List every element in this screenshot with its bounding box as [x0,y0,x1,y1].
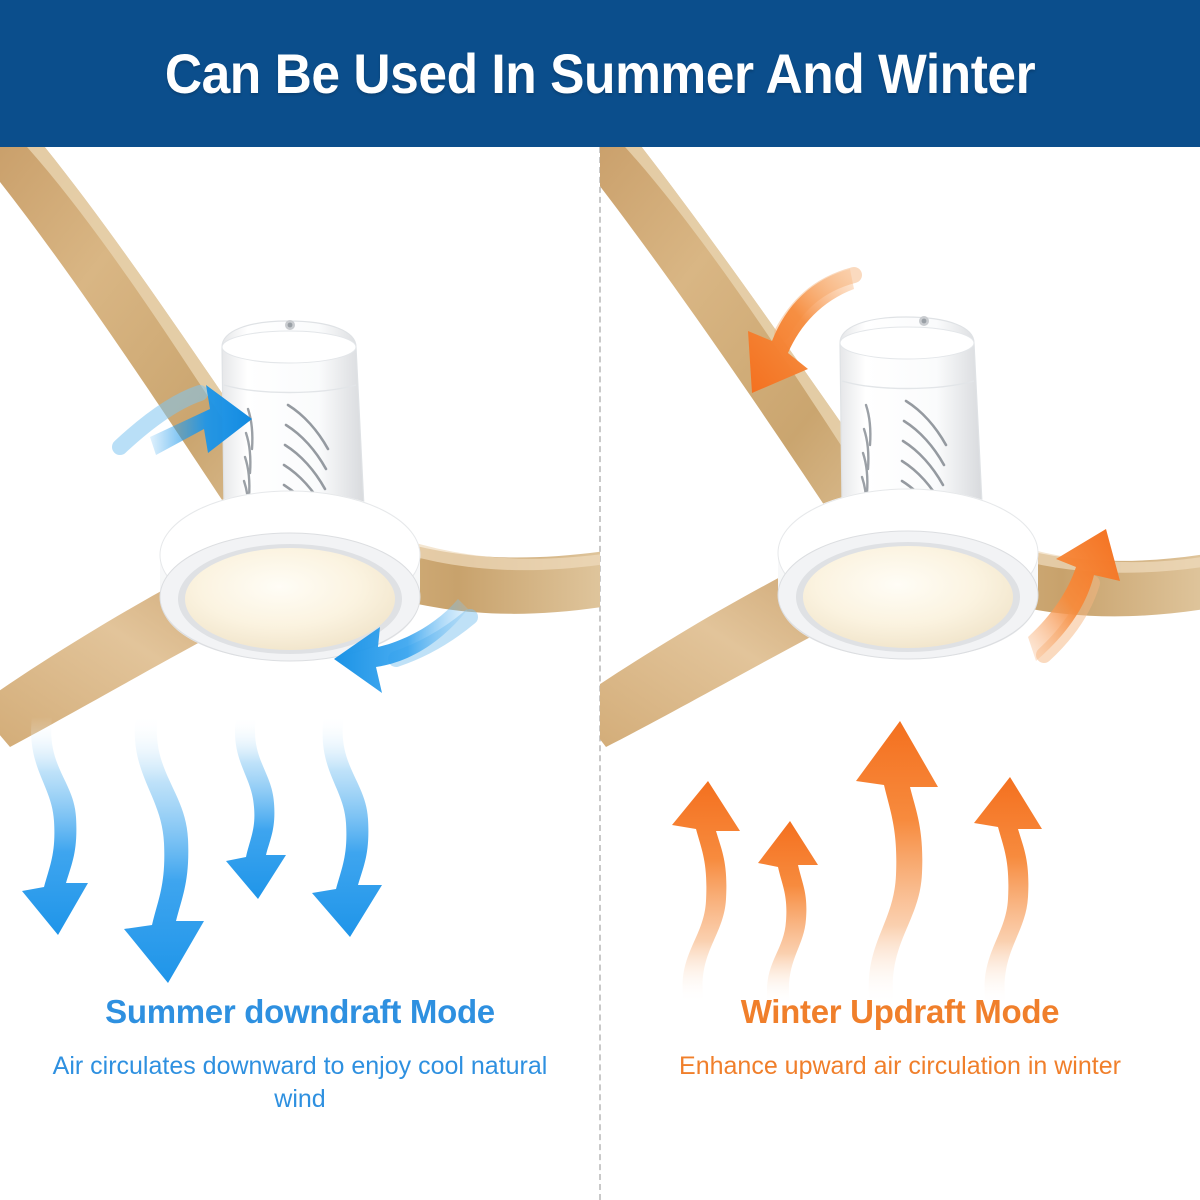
airflow-arrow-up-3 [856,721,938,1005]
airflow-arrow-down-2 [124,715,204,983]
airflow-arrow-up-2 [758,821,818,1005]
airflow-arrow-up-1 [672,781,740,1003]
led-light-panel [803,546,1013,648]
airflow-arrow-down-4 [312,715,382,937]
caption-summer: Summer downdraft Mode Air circulates dow… [0,992,600,1116]
airflow-arrows-down [0,707,600,1007]
mode-description-summer: Air circulates downward to enjoy cool na… [0,1050,600,1117]
mode-title-summer: Summer downdraft Mode [0,992,600,1032]
ceiling-fan-image-winter [600,147,1200,747]
fan-light-hub [160,491,420,661]
ceiling-fan-illustration [600,147,1200,747]
mode-description-winter: Enhance upward air circulation in winter [600,1050,1200,1083]
fan-light-hub [778,489,1038,659]
panel-winter: Winter Updraft Mode Enhance upward air c… [600,147,1200,1200]
caption-winter: Winter Updraft Mode Enhance upward air c… [600,992,1200,1083]
airflow-arrow-down-3 [226,717,286,899]
airflow-arrow-up-4 [974,777,1042,1005]
page-title: Can Be Used In Summer And Winter [165,41,1035,106]
ceiling-fan-illustration [0,147,600,747]
panel-summer: Summer downdraft Mode Air circulates dow… [0,147,600,1200]
airflow-summer [0,707,600,1007]
airflow-arrow-down-1 [22,717,88,935]
infographic-page: Can Be Used In Summer And Winter [0,0,1200,1200]
mode-title-winter: Winter Updraft Mode [600,992,1200,1032]
ceiling-fan-image-summer [0,147,600,747]
led-light-panel [185,548,395,650]
airflow-winter [600,707,1200,1007]
header-banner: Can Be Used In Summer And Winter [0,0,1200,147]
airflow-arrows-up [600,707,1200,1007]
panels-container: Summer downdraft Mode Air circulates dow… [0,147,1200,1200]
